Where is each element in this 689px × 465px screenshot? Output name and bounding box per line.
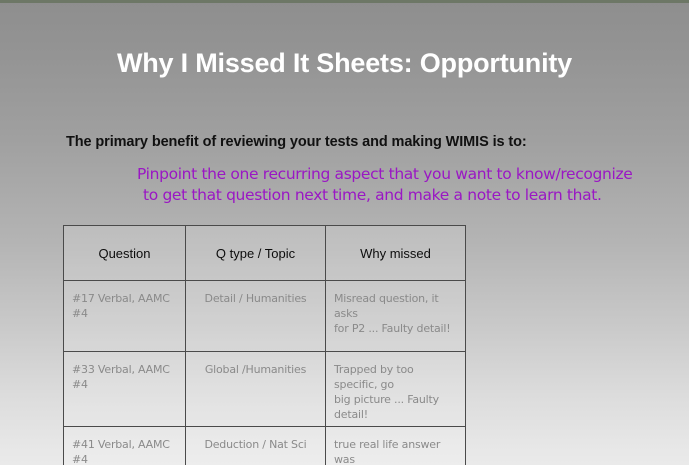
table-header-row: Question Q type / Topic Why missed — [64, 226, 466, 281]
column-header-why-missed: Why missed — [326, 226, 466, 281]
handwritten-annotation-line-1: Pinpoint the one recurring aspect that y… — [137, 164, 667, 185]
page-title: Why I Missed It Sheets: Opportunity — [0, 48, 689, 79]
cell-why-missed-line-1: true real life answer was — [334, 438, 440, 465]
wimi-table: Question Q type / Topic Why missed #17 V… — [63, 225, 466, 465]
top-accent-rule — [0, 0, 689, 3]
cell-question: #33 Verbal, AAMC #4 — [64, 352, 186, 427]
slide-canvas: Why I Missed It Sheets: Opportunity The … — [0, 0, 689, 465]
table-row: #17 Verbal, AAMC #4 Detail / Humanities … — [64, 281, 466, 352]
cell-why-missed-line-2: for P2 ... Faulty detail! — [334, 322, 450, 335]
cell-question: #17 Verbal, AAMC #4 — [64, 281, 186, 352]
table-row: #41 Verbal, AAMC #4 Deduction / Nat Sci … — [64, 427, 466, 465]
lead-in-statement: The primary benefit of reviewing your te… — [66, 134, 527, 150]
column-header-question: Question — [64, 226, 186, 281]
cell-why-missed: true real life answer was tempting ... O… — [326, 427, 466, 465]
cell-why-missed-line-2: big picture ... Faulty detail! — [334, 393, 439, 421]
cell-qtype-topic: Global /Humanities — [186, 352, 326, 427]
cell-qtype-topic: Detail / Humanities — [186, 281, 326, 352]
table-row: #33 Verbal, AAMC #4 Global /Humanities T… — [64, 352, 466, 427]
handwritten-annotation-line-2: to get that question next time, and make… — [137, 185, 667, 206]
cell-why-missed: Misread question, it asks for P2 ... Fau… — [326, 281, 466, 352]
cell-question: #41 Verbal, AAMC #4 — [64, 427, 186, 465]
cell-why-missed-line-1: Misread question, it asks — [334, 292, 438, 320]
column-header-qtype-topic: Q type / Topic — [186, 226, 326, 281]
cell-why-missed: Trapped by too specific, go big picture … — [326, 352, 466, 427]
handwritten-annotation: Pinpoint the one recurring aspect that y… — [137, 164, 667, 206]
cell-qtype-topic: Deduction / Nat Sci — [186, 427, 326, 465]
cell-why-missed-line-1: Trapped by too specific, go — [334, 363, 414, 391]
